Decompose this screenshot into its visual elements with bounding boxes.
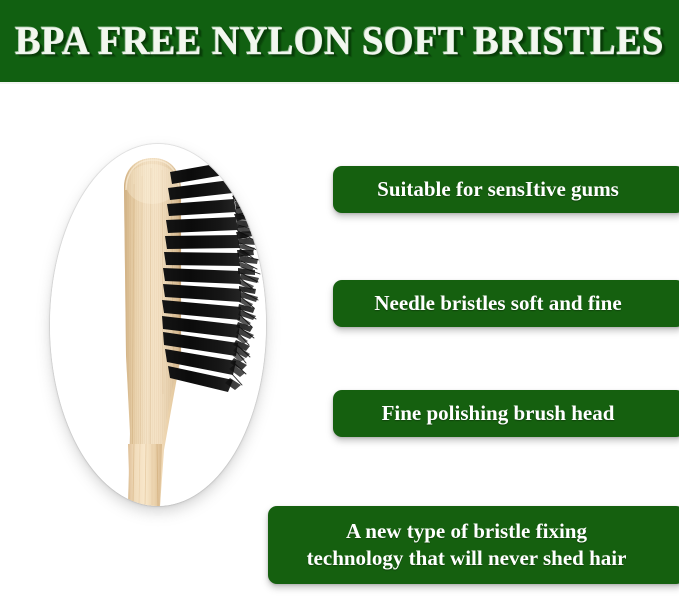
- feature-callout-3-label: Fine polishing brush head: [382, 401, 615, 426]
- product-image-oval: [50, 144, 266, 506]
- feature-callout-3: Fine polishing brush head: [333, 390, 679, 437]
- product-image-frame: [46, 138, 270, 508]
- header-divider: [0, 82, 679, 84]
- feature-callout-2: Needle bristles soft and fine: [333, 280, 679, 327]
- toothbrush-svg: [50, 144, 266, 506]
- toothbrush-stem: [128, 444, 162, 506]
- product-infographic: BPA FREE NYLON SOFT BRISTLES: [0, 0, 679, 610]
- toothbrush-illustration: [50, 144, 266, 506]
- feature-callout-4: A new type of bristle fixing technology …: [268, 506, 679, 584]
- feature-callout-4-label-line1: A new type of bristle fixing: [346, 518, 587, 545]
- page-title: BPA FREE NYLON SOFT BRISTLES: [15, 0, 663, 82]
- feature-callout-4-label-line2: technology that will never shed hair: [307, 545, 627, 572]
- header-banner: BPA FREE NYLON SOFT BRISTLES: [0, 0, 679, 82]
- feature-callout-1: Suitable for sensItive gums: [333, 166, 679, 213]
- toothbrush-bristles: [162, 156, 259, 392]
- feature-callout-2-label: Needle bristles soft and fine: [374, 291, 621, 316]
- feature-callout-1-label: Suitable for sensItive gums: [377, 177, 619, 202]
